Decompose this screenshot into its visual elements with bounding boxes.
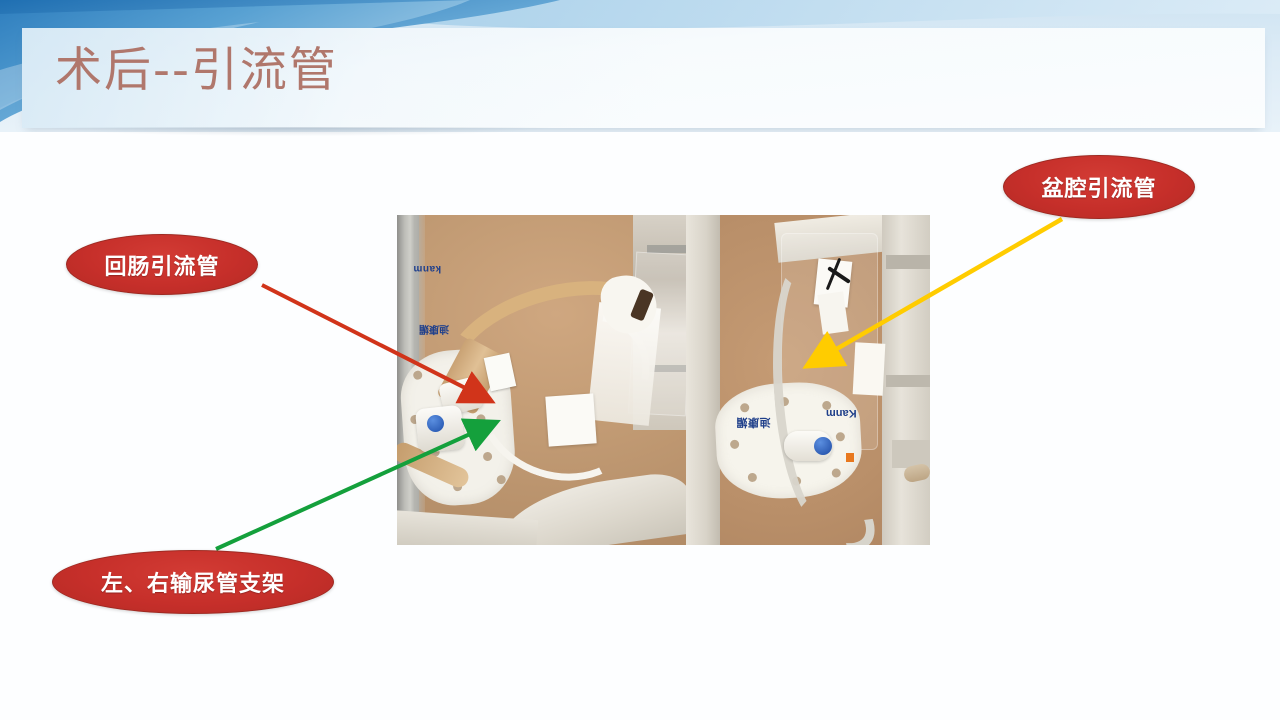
blue-cap-right (814, 437, 832, 455)
gauze-square (545, 393, 596, 446)
photo-left-ileal-drain: kanm 迪康媚 (397, 215, 686, 545)
callout-pelvic-label: 盆腔引流管 (1041, 171, 1156, 203)
callout-ureter-label: 左、右输尿管支架 (101, 566, 285, 598)
callout-ileal-label: 回肠引流管 (104, 249, 219, 281)
slide-canvas: 术后--引流管 kanm (0, 0, 1280, 720)
callout-pelvic-drain[interactable]: 盆腔引流管 (1003, 155, 1195, 219)
pad-brand-label: kanm (413, 263, 441, 274)
bed-frame-bar-2 (886, 375, 930, 387)
page-title: 术后--引流管 (55, 31, 338, 100)
slide-header: 术后--引流管 (0, 0, 1280, 132)
clinical-photo-pair: kanm 迪康媚 (397, 215, 930, 545)
photo-right-pelvic-drain: 迪康媚 Kanm (686, 215, 930, 545)
tube-securement-tape-2 (817, 291, 848, 334)
header-panel-shadow (48, 127, 548, 136)
blue-cap-left (427, 415, 444, 432)
pad-brand-label-cn: 迪康媚 (419, 323, 449, 338)
callout-ileal-drain[interactable]: 回肠引流管 (66, 234, 258, 295)
gauze-pad-right (853, 342, 886, 395)
bed-sheet-left-edge (686, 215, 720, 545)
callout-ureteral-stent[interactable]: 左、右输尿管支架 (52, 550, 334, 614)
bed-frame-bar-1 (886, 255, 930, 269)
pad-brand-label-cn-right: 迪康媚 (736, 415, 771, 431)
